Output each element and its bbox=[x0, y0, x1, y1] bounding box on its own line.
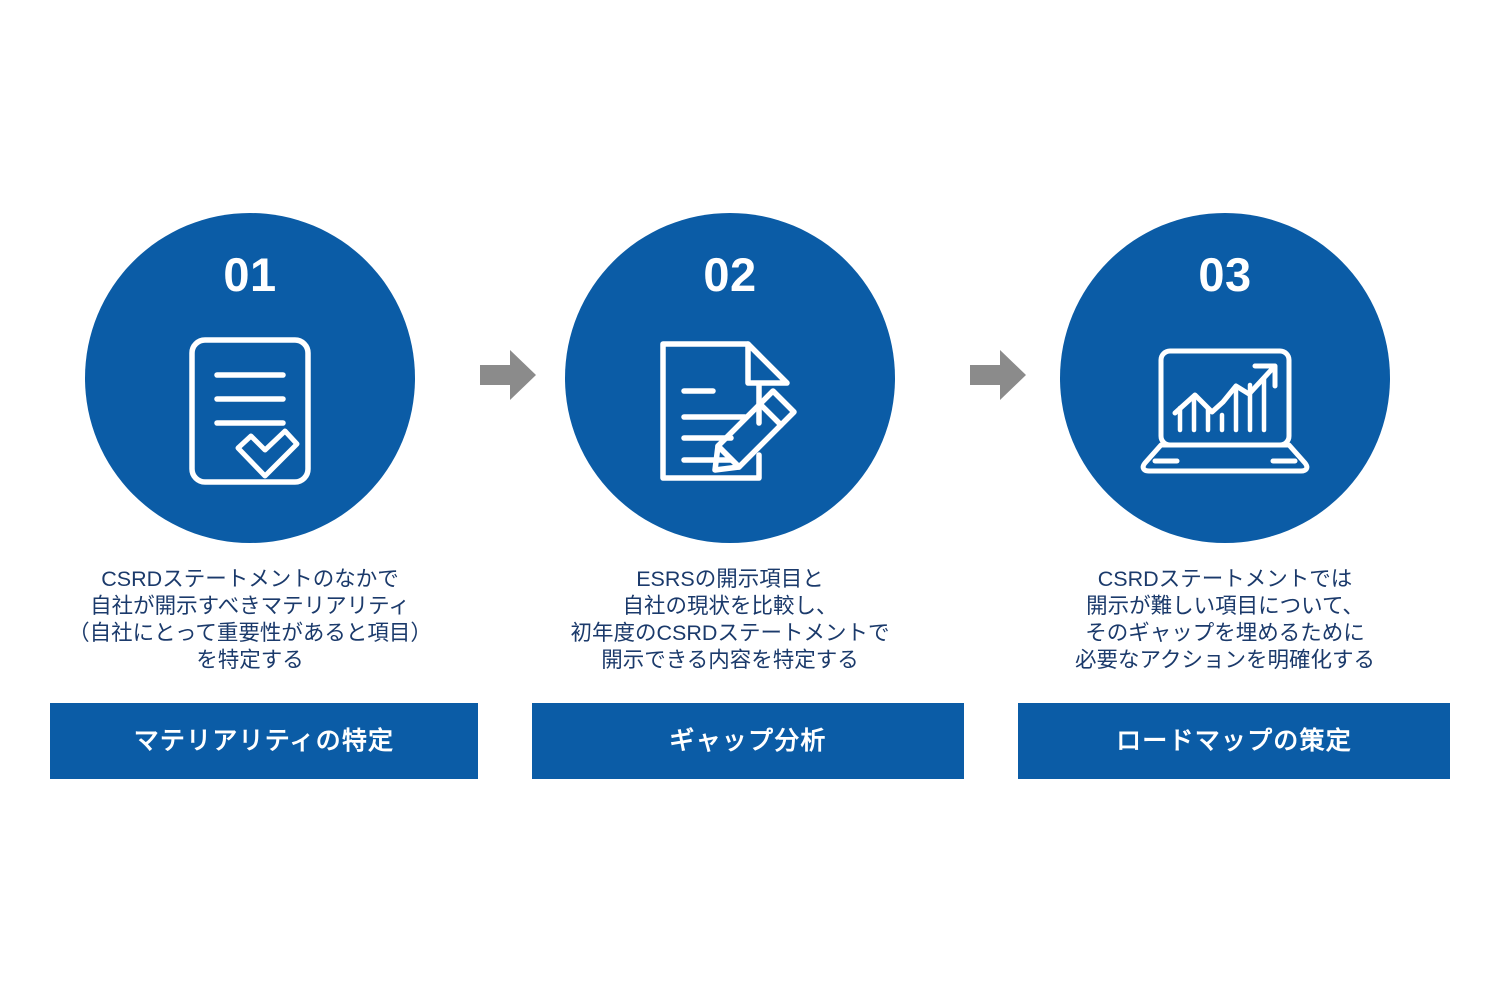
step-number-2: 02 bbox=[565, 251, 895, 298]
process-step-1: 01 CSRDステートメントのなかで 自社が開示すべきマテリアリティ （自社にと… bbox=[0, 0, 500, 1000]
step-label-bar-1[interactable]: マテリアリティの特定 bbox=[50, 703, 478, 779]
step-label-bar-2[interactable]: ギャップ分析 bbox=[532, 703, 964, 779]
step-description-1: CSRDステートメントのなかで 自社が開示すべきマテリアリティ （自社にとって重… bbox=[0, 566, 500, 674]
laptop-growth-chart-icon bbox=[1137, 331, 1313, 491]
document-pencil-icon bbox=[642, 331, 818, 491]
step-label-text-2: ギャップ分析 bbox=[669, 729, 826, 754]
process-diagram: 01 CSRDステートメントのなかで 自社が開示すべきマテリアリティ （自社にと… bbox=[0, 0, 1500, 1000]
step-circle-1: 01 bbox=[85, 213, 415, 543]
step-circle-3: 03 bbox=[1060, 213, 1390, 543]
step-number-3: 03 bbox=[1060, 251, 1390, 298]
process-step-3: 03 bbox=[975, 0, 1475, 1000]
step-label-text-3: ロードマップの策定 bbox=[1116, 729, 1352, 754]
step-number-1: 01 bbox=[85, 251, 415, 298]
process-step-2: 02 ESRSの開示項目と bbox=[480, 0, 980, 1000]
step-description-2: ESRSの開示項目と 自社の現状を比較し、 初年度のCSRDステートメントで 開… bbox=[480, 566, 980, 674]
step-label-bar-3[interactable]: ロードマップの策定 bbox=[1018, 703, 1450, 779]
step-label-text-1: マテリアリティの特定 bbox=[134, 729, 395, 754]
step-description-3: CSRDステートメントでは 開示が難しい項目について、 そのギャップを埋めるため… bbox=[975, 566, 1475, 674]
document-checkmark-icon bbox=[162, 331, 338, 491]
step-circle-2: 02 bbox=[565, 213, 895, 543]
